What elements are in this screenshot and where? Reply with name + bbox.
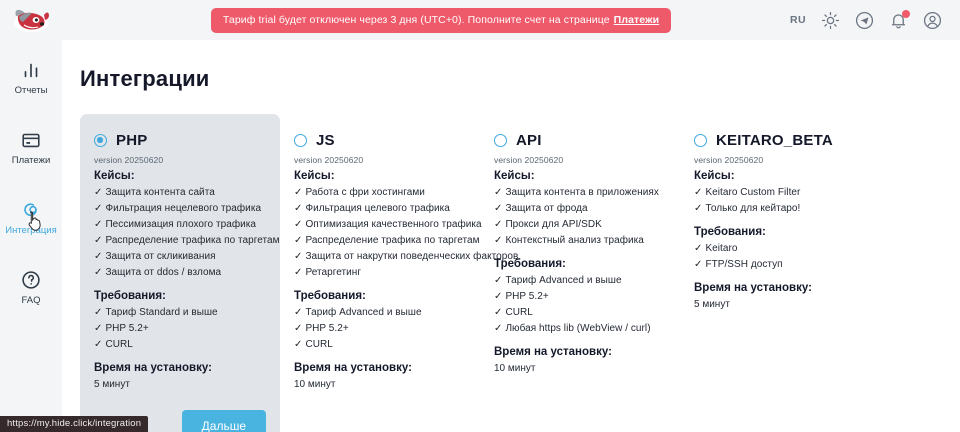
case-label: Защита контента в приложениях	[505, 187, 658, 198]
case-item: ✓Работа с фри хостингами	[294, 185, 466, 201]
requirements-label: Требования:	[494, 258, 666, 270]
install-time-value: 5 минут	[94, 377, 266, 392]
install-time-label: Время на установку:	[494, 346, 666, 358]
check-icon: ✓	[94, 219, 102, 230]
check-icon: ✓	[294, 219, 302, 230]
notifications-button[interactable]	[889, 11, 908, 30]
requirement-item: ✓Любая https lib (WebView / curl)	[494, 321, 666, 337]
integration-card[interactable]: PHPversion 20250620Кейсы:✓Защита контент…	[80, 114, 280, 432]
check-icon: ✓	[494, 187, 502, 198]
bar-chart-icon	[19, 58, 43, 82]
sidebar-item-label: Платежи	[12, 155, 51, 166]
integration-card[interactable]: JSversion 20250620Кейсы:✓Работа с фри хо…	[280, 114, 480, 406]
requirement-label: Keitaro	[705, 243, 737, 254]
top-bar: Тариф trial будет отключен через 3 дня (…	[0, 0, 960, 40]
requirement-label: Тариф Advanced и выше	[305, 307, 421, 318]
requirement-item: ✓PHP 5.2+	[494, 289, 666, 305]
sidebar-item-label: Интеграция	[5, 225, 57, 236]
requirement-item: ✓Keitaro	[694, 241, 866, 257]
requirement-item: ✓FTP/SSH доступ	[694, 257, 866, 273]
integration-card[interactable]: APIversion 20250620Кейсы:✓Защита контент…	[480, 114, 680, 390]
cases-label: Кейсы:	[694, 170, 866, 182]
case-label: Защита от ddos / взлома	[105, 267, 221, 278]
trial-alert-banner: Тариф trial будет отключен через 3 дня (…	[211, 8, 671, 33]
case-item: ✓Пессимизация плохого трафика	[94, 217, 266, 233]
case-label: Распределение трафика по таргетам	[305, 235, 479, 246]
requirement-item: ✓Тариф Advanced и выше	[494, 273, 666, 289]
case-label: Защита от скликивания	[105, 251, 215, 262]
next-button[interactable]: Дальше	[182, 410, 266, 432]
check-icon: ✓	[694, 187, 702, 198]
cases-label: Кейсы:	[294, 170, 466, 182]
case-item: ✓Защита от фрода	[494, 201, 666, 217]
install-time-label: Время на установку:	[94, 362, 266, 374]
case-item: ✓Только для кейтаро!	[694, 201, 866, 217]
install-time-value: 10 минут	[294, 377, 466, 392]
install-time-value: 10 минут	[494, 361, 666, 376]
sidebar-item-reports[interactable]: Отчеты	[0, 58, 62, 112]
case-label: Только для кейтаро!	[705, 203, 800, 214]
account-icon[interactable]	[923, 11, 942, 30]
requirement-item: ✓PHP 5.2+	[294, 321, 466, 337]
requirements-label: Требования:	[94, 290, 266, 302]
case-item: ✓Оптимизация качественного трафика	[294, 217, 466, 233]
check-icon: ✓	[94, 323, 102, 334]
requirement-label: PHP 5.2+	[105, 323, 148, 334]
integration-cards-list: PHPversion 20250620Кейсы:✓Защита контент…	[80, 114, 960, 432]
case-label: Защита контента сайта	[105, 187, 214, 198]
sidebar-item-label: FAQ	[21, 295, 40, 306]
case-item: ✓Распределение трафика по таргетам	[94, 233, 266, 249]
requirement-label: Тариф Standard и выше	[105, 307, 217, 318]
requirement-label: CURL	[505, 307, 532, 318]
check-icon: ✓	[94, 339, 102, 350]
card-title: PHP	[116, 132, 147, 149]
requirement-item: ✓Тариф Standard и выше	[94, 305, 266, 321]
alert-text: Тариф trial будет отключен через 3 дня (…	[223, 14, 610, 26]
case-label: Контекстный анализ трафика	[505, 235, 643, 246]
credit-card-icon	[19, 128, 43, 152]
check-icon: ✓	[494, 203, 502, 214]
sun-icon[interactable]	[821, 11, 840, 30]
requirement-label: FTP/SSH доступ	[705, 259, 782, 270]
check-icon: ✓	[94, 187, 102, 198]
page-title: Интеграции	[80, 66, 960, 92]
case-item: ✓Распределение трафика по таргетам	[294, 233, 466, 249]
card-title: KEITARO_BETA	[716, 132, 833, 149]
check-icon: ✓	[94, 235, 102, 246]
case-item: ✓Защита от ddos / взлома	[94, 265, 266, 281]
sidebar-item-label: Отчеты	[15, 85, 48, 96]
check-icon: ✓	[494, 235, 502, 246]
case-label: Фильтрация нецелевого трафика	[105, 203, 261, 214]
requirement-item: ✓Тариф Advanced и выше	[294, 305, 466, 321]
case-item: ✓Ретаргетинг	[294, 265, 466, 281]
case-item: ✓Защита от скликивания	[94, 249, 266, 265]
install-time-label: Время на установку:	[694, 282, 866, 294]
alert-payments-link[interactable]: Платежи	[614, 14, 660, 26]
main-content: Интеграции PHPversion 20250620Кейсы:✓Защ…	[62, 40, 960, 432]
requirement-label: CURL	[105, 339, 132, 350]
raccoon-logo	[11, 7, 51, 33]
check-icon: ✓	[694, 259, 702, 270]
check-icon: ✓	[694, 203, 702, 214]
cases-label: Кейсы:	[94, 170, 266, 182]
top-bar-center: Тариф trial будет отключен через 3 дня (…	[62, 0, 790, 40]
card-radio-button[interactable]	[694, 134, 707, 147]
case-item: ✓Фильтрация целевого трафика	[294, 201, 466, 217]
telegram-icon[interactable]	[855, 11, 874, 30]
question-circle-icon	[19, 268, 43, 292]
check-icon: ✓	[494, 275, 502, 286]
check-icon: ✓	[94, 307, 102, 318]
card-version: version 20250620	[694, 155, 866, 165]
card-header[interactable]: PHP	[94, 132, 266, 149]
check-icon: ✓	[494, 219, 502, 230]
requirement-item: ✓CURL	[494, 305, 666, 321]
requirement-label: CURL	[305, 339, 332, 350]
requirement-item: ✓PHP 5.2+	[94, 321, 266, 337]
case-item: ✓Keitaro Custom Filter	[694, 185, 866, 201]
requirement-label: PHP 5.2+	[505, 291, 548, 302]
app-root: Тариф trial будет отключен через 3 дня (…	[0, 0, 960, 432]
requirements-label: Требования:	[694, 226, 866, 238]
check-icon: ✓	[494, 307, 502, 318]
requirement-item: ✓CURL	[94, 337, 266, 353]
requirements-label: Требования:	[294, 290, 466, 302]
card-radio-button[interactable]	[94, 134, 107, 147]
check-icon: ✓	[494, 323, 502, 334]
case-label: Пессимизация плохого трафика	[105, 219, 256, 230]
check-icon: ✓	[294, 251, 302, 262]
case-item: ✓Защита контента в приложениях	[494, 185, 666, 201]
language-switcher[interactable]: RU	[790, 14, 806, 26]
case-label: Прокси для API/SDK	[505, 219, 601, 230]
check-icon: ✓	[294, 187, 302, 198]
card-version: version 20250620	[94, 155, 266, 165]
logo-slot[interactable]	[0, 0, 62, 40]
card-version: version 20250620	[494, 155, 666, 165]
check-icon: ✓	[94, 251, 102, 262]
case-item: ✓Защита контента сайта	[94, 185, 266, 201]
case-item: ✓Защита от накрутки поведенческих фактор…	[294, 249, 466, 265]
check-icon: ✓	[94, 203, 102, 214]
check-icon: ✓	[294, 323, 302, 334]
check-icon: ✓	[94, 267, 102, 278]
check-icon: ✓	[294, 307, 302, 318]
install-time-value: 5 минут	[694, 297, 866, 312]
case-label: Keitaro Custom Filter	[705, 187, 800, 198]
sidebar-item-integration[interactable]: Интеграция	[0, 198, 62, 252]
card-radio-button[interactable]	[294, 134, 307, 147]
requirement-label: Тариф Advanced и выше	[505, 275, 621, 286]
case-label: Распределение трафика по таргетам	[105, 235, 279, 246]
integration-card[interactable]: KEITARO_BETAversion 20250620Кейсы:✓Keita…	[680, 114, 880, 326]
install-time-label: Время на установку:	[294, 362, 466, 374]
card-title: JS	[316, 132, 335, 149]
case-label: Работа с фри хостингами	[305, 187, 424, 198]
case-item: ✓Прокси для API/SDK	[494, 217, 666, 233]
card-radio-button[interactable]	[494, 134, 507, 147]
sidebar-item-faq[interactable]: FAQ	[0, 268, 62, 322]
case-label: Ретаргетинг	[305, 267, 361, 278]
cases-label: Кейсы:	[494, 170, 666, 182]
sidebar-item-payments[interactable]: Платежи	[0, 128, 62, 182]
card-header[interactable]: KEITARO_BETA	[694, 132, 866, 149]
case-label: Оптимизация качественного трафика	[305, 219, 481, 230]
check-icon: ✓	[294, 339, 302, 350]
check-icon: ✓	[294, 267, 302, 278]
requirement-item: ✓CURL	[294, 337, 466, 353]
card-version: version 20250620	[294, 155, 466, 165]
top-bar-actions: RU	[790, 11, 960, 30]
check-icon: ✓	[294, 235, 302, 246]
integration-icon	[19, 198, 43, 222]
check-icon: ✓	[494, 291, 502, 302]
case-item: ✓Контекстный анализ трафика	[494, 233, 666, 249]
notification-badge	[902, 10, 910, 18]
case-label: Фильтрация целевого трафика	[305, 203, 449, 214]
sidebar: Отчеты Платежи Интеграция	[0, 40, 62, 432]
status-bar-url: https://my.hide.click/integration	[0, 416, 148, 432]
card-header[interactable]: JS	[294, 132, 466, 149]
check-icon: ✓	[694, 243, 702, 254]
check-icon: ✓	[294, 203, 302, 214]
case-label: Защита от фрода	[505, 203, 587, 214]
card-header[interactable]: API	[494, 132, 666, 149]
requirement-label: PHP 5.2+	[305, 323, 348, 334]
card-title: API	[516, 132, 542, 149]
case-item: ✓Фильтрация нецелевого трафика	[94, 201, 266, 217]
requirement-label: Любая https lib (WebView / curl)	[505, 323, 650, 334]
